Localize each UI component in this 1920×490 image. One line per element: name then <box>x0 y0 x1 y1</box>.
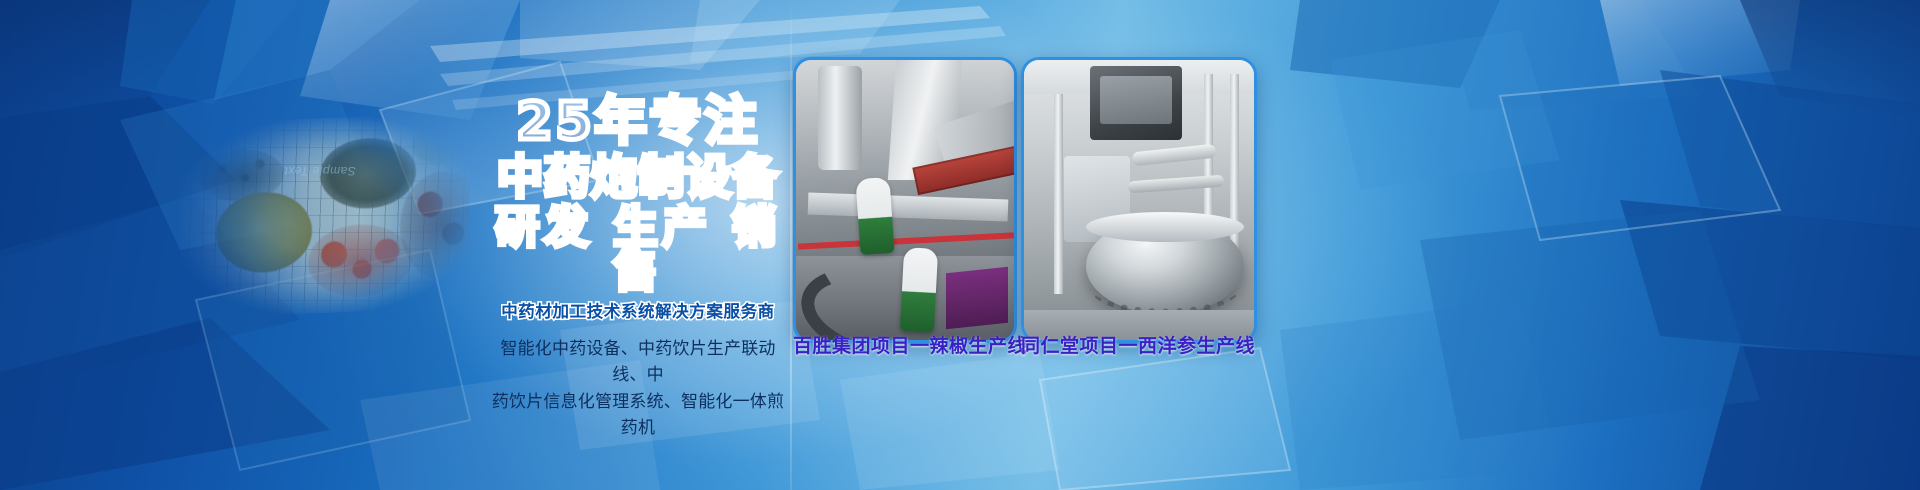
project-photo-ginseng[interactable] <box>1021 57 1257 343</box>
headline-line-1: 25年专注 <box>478 96 798 148</box>
image-watermark: Sample Text <box>284 164 356 178</box>
headline-line-2: 中药炮制设备 <box>478 154 798 200</box>
photo-post-1 <box>1054 94 1063 294</box>
caption-chili: 百胜集团项目一辣椒生产线 <box>793 331 1011 358</box>
photo-conveyor <box>808 193 1009 222</box>
tcm-herbs-image <box>180 112 470 318</box>
photo-vessel-rim <box>1086 212 1244 242</box>
headline-line-3: 研发 生产 销售 <box>478 206 798 294</box>
photo-duct <box>818 66 862 170</box>
photo-vessel-bolts <box>1090 260 1240 315</box>
photo-machine-face <box>1100 76 1172 124</box>
body-line-2: 药饮片信息化管理系统、智能化一体煎药机 <box>488 389 788 442</box>
photo-crate <box>946 267 1008 330</box>
photo-worker-1 <box>855 177 894 255</box>
ginseng-production-line-photo <box>1024 60 1254 340</box>
caption-ginseng: 同仁堂项目一西洋参生产线 <box>1021 331 1251 358</box>
headline-block: 25年专注 中药炮制设备 研发 生产 销售 中药材加工技术系统解决方案服务商 智… <box>478 96 798 441</box>
chili-production-line-photo <box>796 60 1014 340</box>
photo-red-rail-upper <box>798 232 1014 249</box>
promo-banner: Sample Text 25年专注 中药炮制设备 研发 生产 销售 中药材加工技… <box>0 0 1920 490</box>
project-photo-chili[interactable] <box>793 57 1017 343</box>
photo-worker-2 <box>900 247 938 333</box>
headline-tagline: 中药材加工技术系统解决方案服务商 <box>478 298 798 322</box>
image-glaze <box>180 112 470 318</box>
headline-body-text: 智能化中药设备、中药饮片生产联动线、中 药饮片信息化管理系统、智能化一体煎药机 <box>488 336 788 441</box>
body-line-1: 智能化中药设备、中药饮片生产联动线、中 <box>488 336 788 389</box>
